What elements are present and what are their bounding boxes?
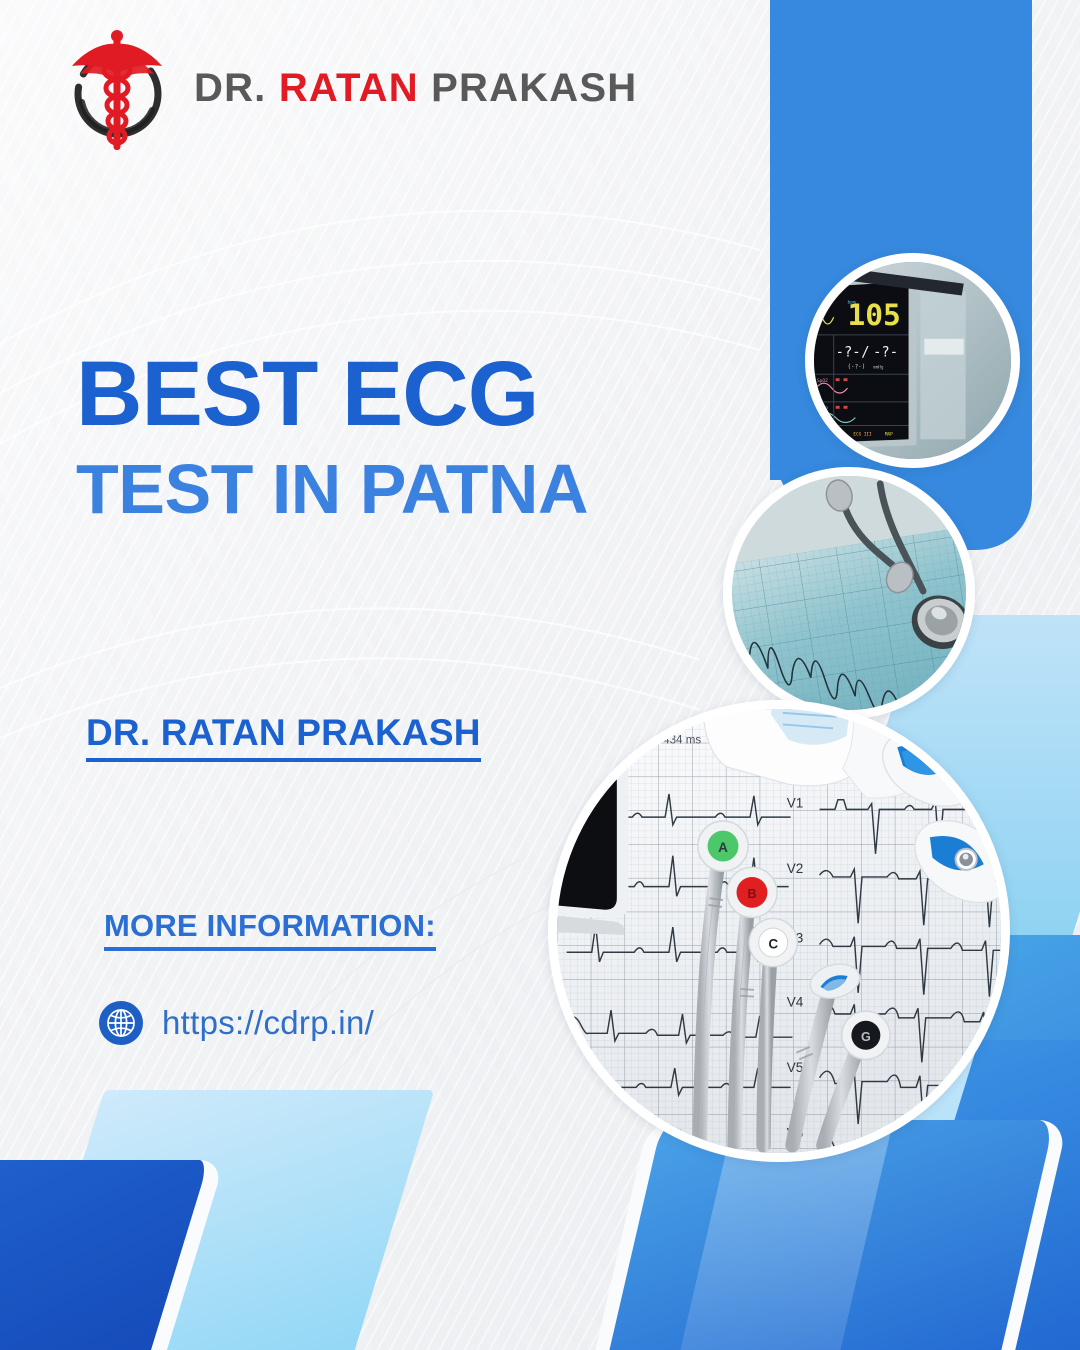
svg-text:V2: V2 (787, 861, 804, 876)
electrode-b: B (727, 867, 777, 917)
svg-text:(-?-): (-?-) (847, 364, 865, 370)
poster-canvas: DR. RATAN PRAKASH BEST ECG TEST IN PATNA… (0, 0, 1080, 1350)
website-url[interactable]: https://cdrp.in/ (162, 1004, 374, 1042)
svg-text:434 ms: 434 ms (663, 735, 701, 747)
caduceus-icon (58, 22, 176, 154)
brand-name-suffix: PRAKASH (419, 66, 638, 110)
headline-line-2: TEST IN PATNA (76, 446, 588, 534)
brand-name-highlight: RATAN (279, 66, 419, 110)
svg-text:RESP: RESP (817, 406, 828, 412)
svg-text:G: G (861, 1030, 871, 1044)
ecg-photo: ms 434 ms Val V1 V2 V3 V4 V5 V6 (548, 700, 1010, 1162)
brand-name-prefix: DR. (194, 66, 279, 110)
svg-text:-?-: -?- (873, 345, 898, 361)
brand-logo: DR. RATAN PRAKASH (58, 22, 637, 154)
headline: BEST ECG TEST IN PATNA (76, 348, 588, 534)
svg-text:mmHg: mmHg (873, 364, 884, 370)
svg-text:B: B (747, 887, 756, 901)
svg-text:ECG II: ECG II (820, 431, 836, 437)
svg-text:A: A (718, 840, 728, 855)
more-information-label: MORE INFORMATION: (104, 908, 436, 951)
brand-name: DR. RATAN PRAKASH (194, 66, 637, 111)
website-row[interactable]: https://cdrp.in/ (98, 1000, 374, 1046)
monitor-photo: 105 HR NIBP bpm -?- / -?- (-?-) mmHg SpO… (805, 253, 1020, 468)
svg-text:V5: V5 (787, 1060, 804, 1075)
svg-text:-?-: -?- (836, 345, 861, 361)
svg-text:V4: V4 (787, 994, 804, 1009)
svg-text:ms: ms (671, 719, 685, 731)
svg-text:/: / (861, 345, 869, 361)
svg-text:ECG III: ECG III (853, 431, 872, 437)
stethoscope-photo (723, 467, 975, 719)
globe-icon (98, 1000, 144, 1046)
svg-text:bpm: bpm (847, 299, 855, 305)
headline-line-1: BEST ECG (76, 348, 588, 440)
svg-text:C: C (768, 936, 778, 951)
doctor-name: DR. RATAN PRAKASH (86, 712, 481, 762)
electrode-a: A (698, 821, 748, 871)
electrode-c: C (749, 918, 797, 966)
svg-text:MAP: MAP (885, 431, 893, 437)
svg-text:V1: V1 (787, 795, 804, 810)
electrode-g: G (842, 1011, 890, 1059)
